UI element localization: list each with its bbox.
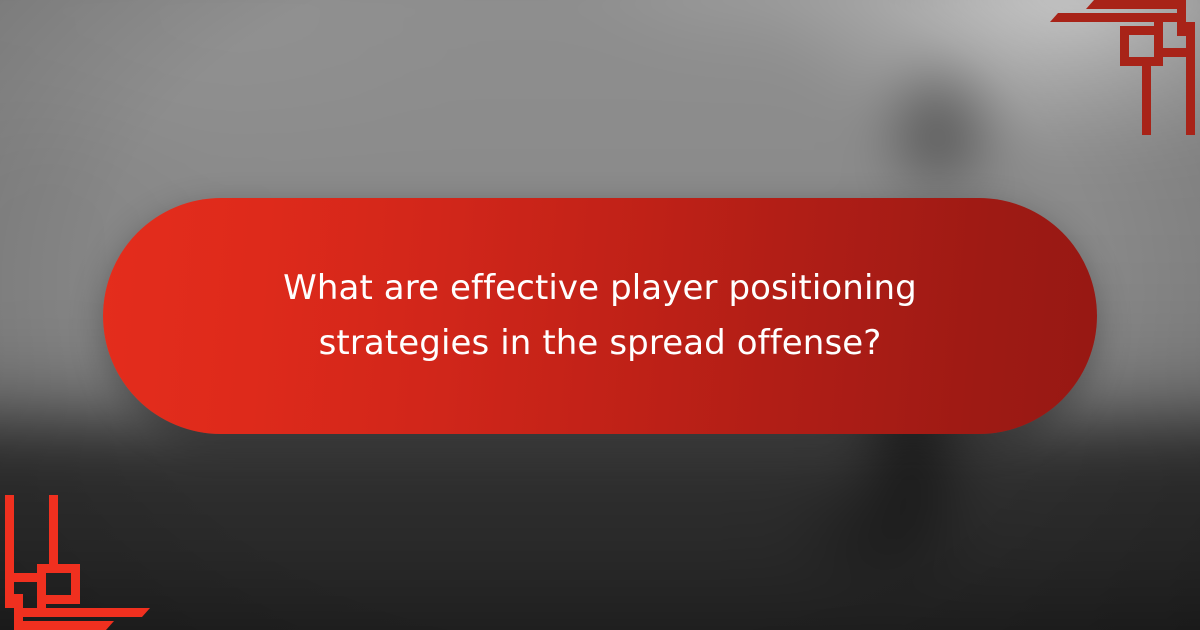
social-card-canvas: What are effective player positioning st… — [0, 0, 1200, 630]
question-text: What are effective player positioning st… — [260, 261, 940, 371]
question-card: What are effective player positioning st… — [103, 198, 1097, 434]
